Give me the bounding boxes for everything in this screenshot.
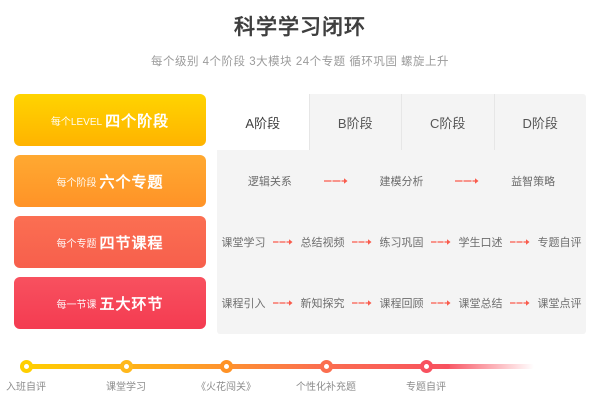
left-bar-segment-big: 五大环节 (99, 293, 163, 314)
course-cell[interactable]: 练习巩固 (375, 234, 428, 250)
left-bar-level-small: 每个LEVEL (51, 113, 102, 128)
course-cell[interactable]: 专题自评 (533, 234, 586, 250)
learning-timeline: 入班自评 课堂学习 《火花闯关》 个性化补充题 专题自评 (14, 352, 586, 402)
timeline-label: 专题自评 (406, 378, 446, 393)
timeline-dot[interactable] (320, 360, 333, 373)
timeline-label: 个性化补充题 (296, 378, 356, 393)
left-bar-stage-small: 每个阶段 (56, 174, 96, 189)
timeline-track-fade (444, 364, 534, 369)
arrow-right-icon (428, 299, 454, 307)
segment-cell[interactable]: 课程回顾 (375, 295, 428, 311)
timeline-dot[interactable] (420, 360, 433, 373)
page-title: 科学学习闭环 (0, 0, 600, 41)
timeline-dot[interactable] (220, 360, 233, 373)
left-bar-topic-small: 每个专题 (56, 235, 96, 250)
timeline-track (20, 364, 450, 369)
timeline-label: 课堂学习 (106, 378, 146, 393)
course-cell[interactable]: 总结视频 (296, 234, 349, 250)
row-topics: 逻辑关系 建模分析 益智策略 (217, 155, 586, 207)
timeline-dot[interactable] (120, 360, 133, 373)
infographic-root: 科学学习闭环 每个级别 4个阶段 3大模块 24个专题 循环巩固 螺旋上升 每个… (0, 0, 600, 411)
tab-stage-a[interactable]: A阶段 (217, 94, 310, 150)
arrow-right-icon (323, 177, 349, 185)
arrow-right-icon (349, 238, 375, 246)
left-bar-stage[interactable]: 每个阶段 六个专题 (14, 155, 206, 207)
topic-cell[interactable]: 益智策略 (480, 173, 586, 189)
arrow-right-icon (270, 299, 296, 307)
arrow-right-icon (507, 238, 533, 246)
arrow-right-icon (507, 299, 533, 307)
timeline-label: 《火花闯关》 (196, 378, 256, 393)
row-courses: 课堂学习 总结视频 练习巩固 学生口述 专题自评 (217, 216, 586, 268)
arrow-right-icon (428, 238, 454, 246)
segment-cell[interactable]: 课堂总结 (454, 295, 507, 311)
tab-stage-d[interactable]: D阶段 (495, 94, 587, 150)
topic-cell[interactable]: 逻辑关系 (217, 173, 323, 189)
segment-cell[interactable]: 课堂点评 (533, 295, 586, 311)
left-bar-level[interactable]: 每个LEVEL 四个阶段 (14, 94, 206, 146)
arrow-right-icon (349, 299, 375, 307)
stage-panel: A阶段 B阶段 C阶段 D阶段 逻辑关系 建模分析 益智策略 课堂学习 (217, 94, 586, 334)
left-bar-topic-big: 四节课程 (99, 232, 163, 253)
left-label-column: 每个LEVEL 四个阶段 每个阶段 六个专题 每个专题 四节课程 每一节课 五大… (14, 94, 206, 334)
left-bar-topic[interactable]: 每个专题 四节课程 (14, 216, 206, 268)
row-segments: 课程引入 新知探究 课程回顾 课堂总结 课堂点评 (217, 277, 586, 329)
course-cell[interactable]: 学生口述 (454, 234, 507, 250)
left-bar-stage-big: 六个专题 (99, 171, 163, 192)
page-subtitle: 每个级别 4个阶段 3大模块 24个专题 循环巩固 螺旋上升 (0, 53, 600, 69)
timeline-label: 入班自评 (6, 378, 46, 393)
course-cell[interactable]: 课堂学习 (217, 234, 270, 250)
timeline-dot[interactable] (20, 360, 33, 373)
segment-cell[interactable]: 新知探究 (296, 295, 349, 311)
left-bar-segment-small: 每一节课 (56, 296, 96, 311)
arrow-right-icon (454, 177, 480, 185)
left-bar-level-big: 四个阶段 (105, 110, 169, 131)
segment-cell[interactable]: 课程引入 (217, 295, 270, 311)
arrow-right-icon (270, 238, 296, 246)
stage-tabs: A阶段 B阶段 C阶段 D阶段 (217, 94, 586, 150)
left-bar-segment[interactable]: 每一节课 五大环节 (14, 277, 206, 329)
tab-stage-c[interactable]: C阶段 (402, 94, 495, 150)
topic-cell[interactable]: 建模分析 (349, 173, 455, 189)
closed-loop-board: 每个LEVEL 四个阶段 每个阶段 六个专题 每个专题 四节课程 每一节课 五大… (14, 94, 586, 334)
tab-stage-b[interactable]: B阶段 (310, 94, 403, 150)
